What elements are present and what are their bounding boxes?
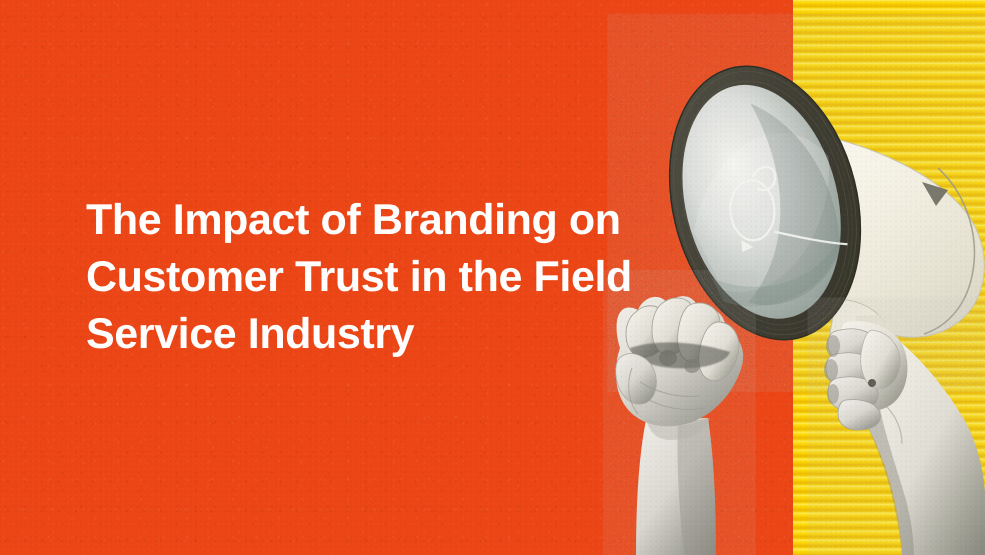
page-title: The Impact of Branding on Customer Trust… bbox=[86, 192, 686, 363]
banner-canvas: The Impact of Branding on Customer Trust… bbox=[0, 0, 985, 555]
yellow-corrugated-panel bbox=[793, 0, 985, 555]
